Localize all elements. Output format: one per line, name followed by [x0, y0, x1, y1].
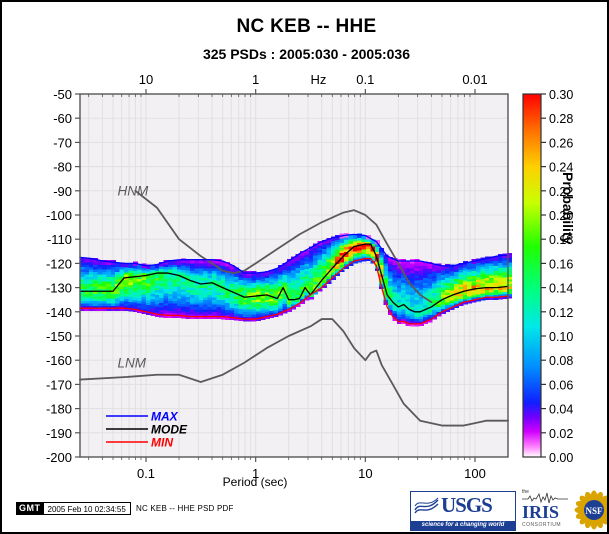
- y-tick-label: -150: [46, 329, 72, 344]
- nsf-seal-icon: NSF: [574, 490, 609, 530]
- nsf-wordmark: NSF: [585, 506, 603, 516]
- y-tick-label: -110: [47, 232, 72, 247]
- colorbar-tick-label: 0.16: [549, 257, 573, 271]
- legend-label-max: MAX: [151, 410, 179, 424]
- iris-logo: the IRIS CONSORTIUM: [522, 489, 568, 531]
- colorbar-tick-label: 0.02: [549, 427, 573, 441]
- nsf-logo: NSF: [574, 490, 609, 530]
- colorbar-title: Probability: [560, 172, 576, 244]
- top-axis-tick-label: 1: [252, 72, 259, 87]
- y-tick-label: -60: [53, 111, 72, 126]
- y-tick-label: -180: [46, 402, 72, 417]
- y-tick-label: -80: [53, 160, 72, 175]
- annotation-hnm: HNM: [118, 184, 149, 199]
- y-tick-label: -200: [46, 450, 72, 465]
- agency-logos: USGS science for a changing world the IR…: [410, 489, 606, 532]
- iris-wordmark: IRIS: [522, 503, 559, 521]
- top-axis-tick-label: 10: [139, 72, 153, 87]
- y-tick-label: -170: [46, 377, 72, 392]
- colorbar-tick-label: 0.12: [549, 306, 573, 320]
- figure-frame: NC KEB -- HHE 325 PSDs : 2005:030 - 2005…: [0, 0, 609, 534]
- usgs-tagline: science for a changing world: [411, 521, 515, 530]
- colorbar: 0.300.280.260.240.220.200.180.160.140.12…: [523, 88, 573, 465]
- annotation-lnm: LNM: [118, 355, 147, 370]
- psd-pdf-chart: -50-60-70-80-90-100-110-120-130-140-150-…: [2, 2, 609, 502]
- gmt-stamp: GMT 2005 Feb 10 02:34:55: [16, 502, 131, 515]
- top-axis-tick-label: 0.01: [462, 72, 487, 87]
- legend-label-min: MIN: [151, 436, 173, 450]
- y-tick-label: -100: [46, 208, 72, 223]
- colorbar-tick-label: 0.06: [549, 378, 573, 392]
- usgs-logo: USGS science for a changing world: [410, 491, 516, 531]
- y-tick-label: -70: [53, 135, 72, 150]
- top-axis-label: Hz: [311, 72, 327, 87]
- colorbar-tick-label: 0.08: [549, 354, 573, 368]
- x-axis-label: Period (sec): [2, 475, 508, 489]
- usgs-wave-icon: [414, 497, 439, 515]
- legend-label-mode: MODE: [151, 423, 188, 437]
- colorbar-tick-label: 0.10: [549, 330, 573, 344]
- colorbar-gradient: [523, 94, 541, 457]
- y-tick-label: -50: [53, 87, 72, 102]
- top-axis-tick-label: 0.1: [356, 72, 374, 87]
- y-tick-label: -190: [46, 426, 72, 441]
- figure-caption: NC KEB -- HHE PSD PDF: [136, 504, 234, 513]
- gmt-timestamp: 2005 Feb 10 02:34:55: [44, 502, 131, 515]
- y-tick-label: -120: [46, 256, 72, 271]
- y-tick-label: -130: [46, 281, 72, 296]
- iris-sublabel: CONSORTIUM: [522, 522, 561, 528]
- colorbar-tick-label: 0.04: [549, 403, 573, 417]
- y-tick-label: -160: [46, 353, 72, 368]
- colorbar-tick-label: 0.28: [549, 112, 573, 126]
- colorbar-tick-label: 0.00: [549, 451, 573, 465]
- y-tick-label: -90: [53, 184, 72, 199]
- y-tick-label: -140: [46, 305, 72, 320]
- colorbar-tick-label: 0.14: [549, 282, 573, 296]
- usgs-wordmark: USGS: [441, 494, 492, 516]
- colorbar-tick-label: 0.30: [549, 88, 573, 102]
- gmt-logo: GMT: [16, 502, 44, 515]
- colorbar-tick-label: 0.26: [549, 136, 573, 150]
